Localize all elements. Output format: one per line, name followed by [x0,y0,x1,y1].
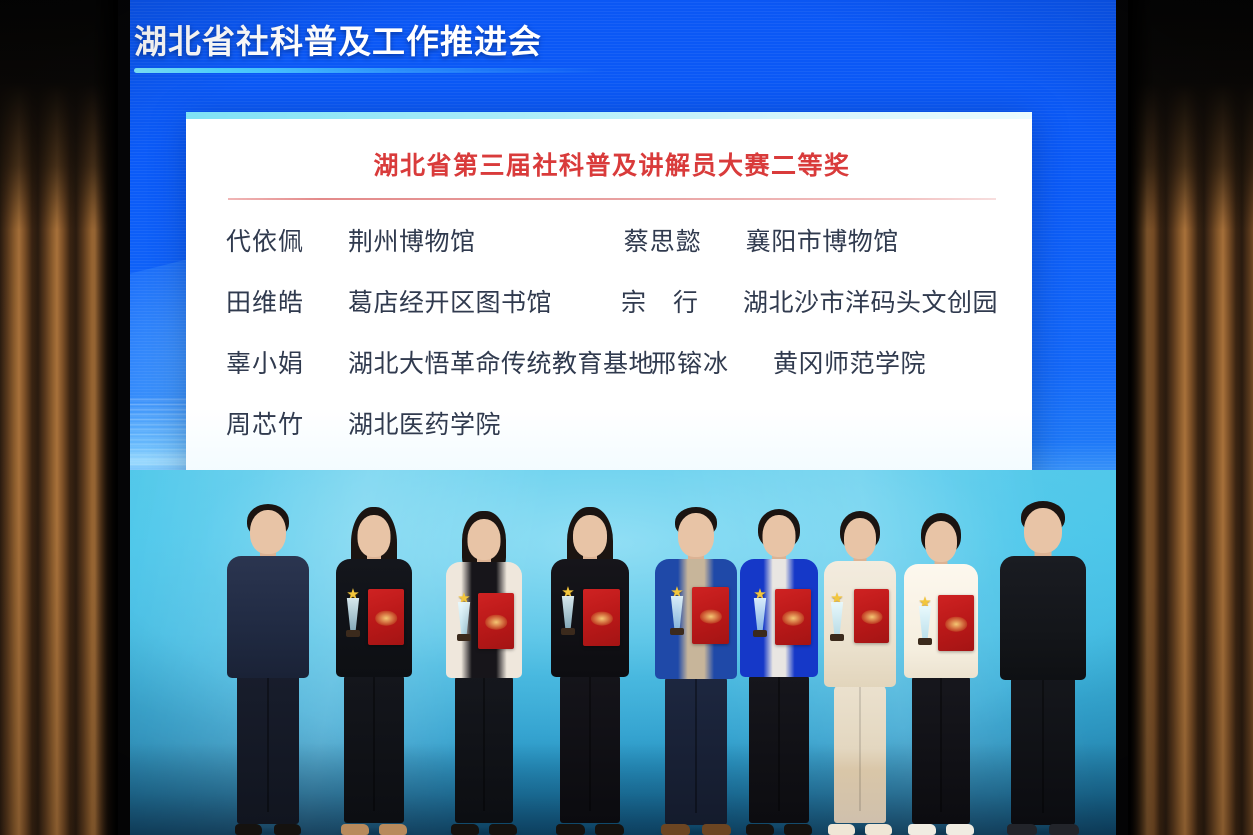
slide-title: 湖北省第三届社科普及讲解员大赛二等奖 [226,146,998,182]
person-awardee-3: ★ [545,505,635,835]
awardee-org: 襄阳市博物馆 [746,222,899,258]
photo-scene: ▦ ✷ 湖北省社科普及工作推进会 湖北省第三届社科普及讲解员大赛二等奖 代依佩 … [0,0,1253,835]
crystal-trophy: ★ [914,595,936,645]
awardee-group-photo: ★ ★ ★ [0,475,1253,835]
crystal-trophy: ★ [342,587,364,637]
award-certificate [368,589,404,645]
awardee-name: 周芯竹 [226,405,338,441]
awardee-entry: 周芯竹 湖北医药学院 [226,405,624,441]
banner-title: 湖北省社科普及工作推进会 [134,15,604,63]
person-official-left [222,500,314,835]
awardee-name: 代依佩 [226,222,338,258]
banner-underline [134,68,604,73]
awardee-org: 湖北大悟革命传统教育基地 [348,344,654,380]
crystal-trophy: ★ [666,585,688,635]
person-awardee-1: ★ [330,505,418,835]
awardee-entry: 蔡思懿 襄阳市博物馆 [624,222,998,258]
awardee-org: 葛店经开区图书馆 [348,283,552,319]
awardee-name: 宗 行 [621,283,733,319]
slide-top-accent [186,112,1032,119]
crystal-trophy: ★ [749,587,771,637]
awardee-name: 田维皓 [226,283,338,319]
stage-curtain-right [1128,0,1253,835]
awardee-name: 蔡思懿 [624,222,736,258]
awardee-entry: 代依佩 荆州博物馆 [226,222,624,258]
awardee-row: 周芯竹 湖北医药学院 [226,405,998,466]
person-awardee-7: ★ [898,509,984,835]
person-awardee-4: ★ [650,503,742,835]
awardee-name: 辜小娟 [226,344,338,380]
award-certificate [583,589,620,646]
awardee-entry: 宗 行 湖北沙市洋码头文创园 [621,283,998,319]
person-awardee-2: ★ [440,507,528,835]
awardee-entry: 辜小娟 湖北大悟革命传统教育基地 [226,344,651,380]
award-certificate [692,587,729,644]
awardee-list: 代依佩 荆州博物馆 蔡思懿 襄阳市博物馆 田维皓 葛店经开区图书馆 宗 行 [226,222,998,466]
person-official-right [995,499,1091,835]
awardee-name: 邢镕冰 [651,344,763,380]
award-certificate [775,589,811,645]
slide-title-divider [228,198,996,200]
awardee-org: 黄冈师范学院 [773,344,926,380]
award-certificate [478,593,514,649]
award-certificate [854,589,889,643]
stage-curtain-left [0,0,118,835]
person-awardee-6: ★ [818,507,902,835]
awardee-entry: 田维皓 葛店经开区图书馆 [226,283,621,319]
crystal-trophy: ★ [453,591,475,641]
awardee-row: 田维皓 葛店经开区图书馆 宗 行 湖北沙市洋码头文创园 [226,283,998,344]
crystal-trophy: ★ [826,591,848,641]
awardee-org: 湖北沙市洋码头文创园 [743,283,998,319]
awardee-org: 湖北医药学院 [348,405,501,441]
award-certificate [938,595,974,651]
awardee-org: 荆州博物馆 [348,222,476,258]
awardee-entry: 邢镕冰 黄冈师范学院 [651,344,998,380]
awardee-row: 代依佩 荆州博物馆 蔡思懿 襄阳市博物馆 [226,222,998,283]
crystal-trophy: ★ [557,585,579,635]
slide-panel: 湖北省第三届社科普及讲解员大赛二等奖 代依佩 荆州博物馆 蔡思懿 襄阳市博物馆 … [186,112,1032,524]
person-awardee-5: ★ [735,505,823,835]
awardee-row: 辜小娟 湖北大悟革命传统教育基地 邢镕冰 黄冈师范学院 [226,344,998,405]
